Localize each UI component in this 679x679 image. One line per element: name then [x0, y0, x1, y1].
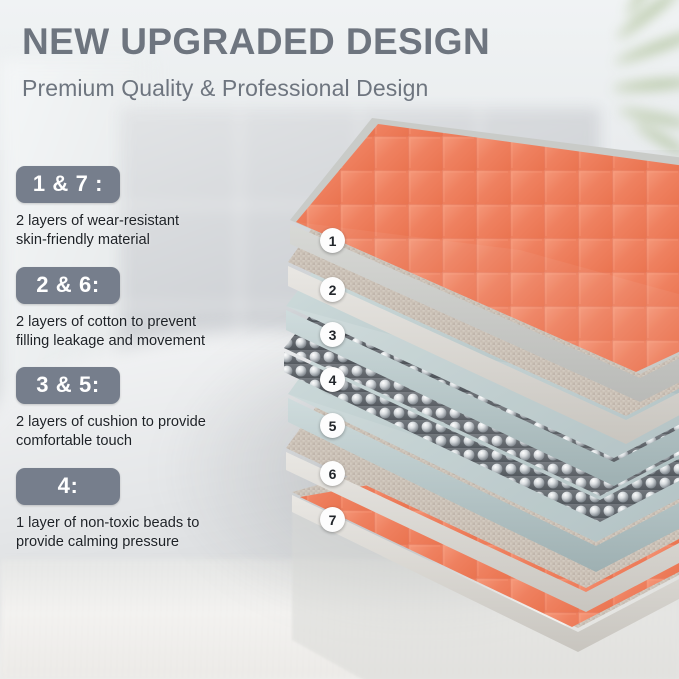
feature-description-1: 2 layers of wear-resistant skin-friendly…: [16, 212, 286, 251]
layer-number-6[interactable]: 6: [320, 461, 345, 486]
feature-item-4: 4: 1 layer of non-toxic beads to provide…: [16, 468, 286, 553]
feature-description-4: 1 layer of non-toxic beads to provide ca…: [16, 514, 286, 553]
layer-number-4[interactable]: 4: [320, 367, 345, 392]
feature-item-1: 1 & 7 : 2 layers of wear-resistant skin-…: [16, 166, 286, 251]
feature-item-3: 3 & 5: 2 layers of cushion to provide co…: [16, 367, 286, 452]
feature-badge-3: 3 & 5:: [16, 367, 120, 404]
feature-badge-4: 4:: [16, 468, 120, 505]
layer-number-1[interactable]: 1: [320, 228, 345, 253]
layer-number-7[interactable]: 7: [320, 507, 345, 532]
feature-label-list: 1 & 7 : 2 layers of wear-resistant skin-…: [16, 166, 286, 568]
page-title: NEW UPGRADED DESIGN: [22, 22, 662, 63]
header: NEW UPGRADED DESIGN Premium Quality & Pr…: [22, 22, 662, 102]
feature-description-2: 2 layers of cotton to prevent filling le…: [16, 313, 286, 352]
infographic-canvas: 1 2 3 4 5 6 7 NEW UPGRADED DESIGN Premiu…: [0, 0, 679, 679]
feature-badge-1: 1 & 7 :: [16, 166, 120, 203]
feature-badge-2: 2 & 6:: [16, 267, 120, 304]
layer-number-3[interactable]: 3: [320, 322, 345, 347]
feature-description-3: 2 layers of cushion to provide comfortab…: [16, 413, 286, 452]
layer-number-2[interactable]: 2: [320, 277, 345, 302]
layer-number-5[interactable]: 5: [320, 413, 345, 438]
feature-item-2: 2 & 6: 2 layers of cotton to prevent fil…: [16, 267, 286, 352]
page-subtitle: Premium Quality & Professional Design: [22, 75, 662, 102]
